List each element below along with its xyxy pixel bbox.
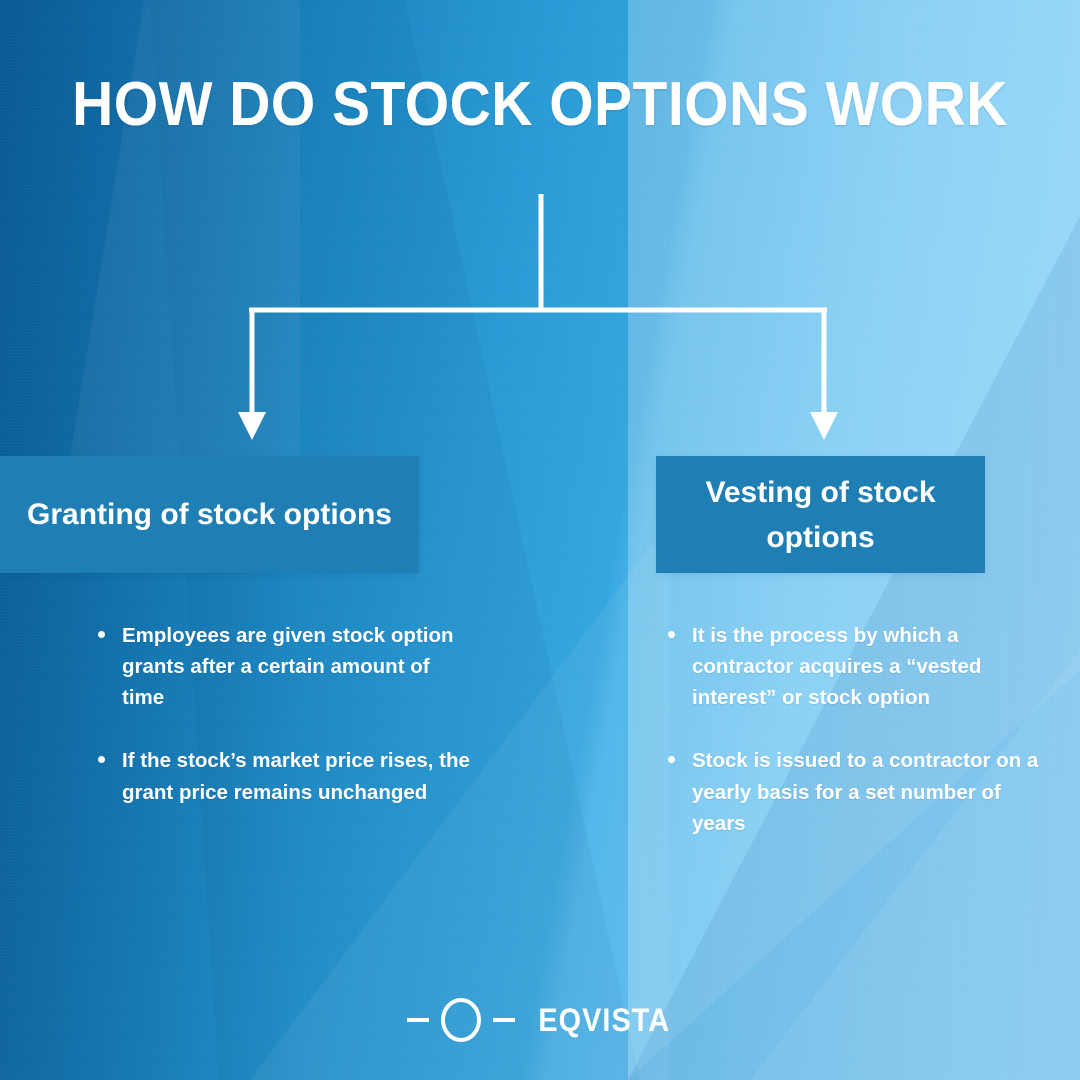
list-item: It is the process by which a contractor … [660, 620, 1040, 713]
list-item: Employees are given stock option grants … [90, 620, 470, 713]
branch-heading-box-vesting[interactable]: Vesting of stock options [656, 456, 985, 573]
page-title: HOW DO STOCK OPTIONS WORK [43, 74, 1037, 136]
brand-name: EQVISTA [538, 1004, 670, 1036]
dash-circle-dash-icon [403, 998, 519, 1042]
list-item: Stock is issued to a contractor on a yea… [660, 745, 1040, 838]
infographic-canvas: HOW DO STOCK OPTIONS WORK Granting of st… [0, 0, 1080, 1080]
footer-logo[interactable]: EQVISTA [0, 998, 1080, 1042]
arrowhead-left [238, 412, 266, 440]
bullet-list-vesting: It is the process by which a contractor … [660, 620, 1040, 871]
list-item: If the stock’s market price rises, the g… [90, 745, 470, 807]
branch-heading-label-granting: Granting of stock options [13, 492, 406, 537]
bullet-list-granting: Employees are given stock option grants … [90, 620, 470, 840]
arrowhead-right [810, 412, 838, 440]
branch-heading-label-vesting: Vesting of stock options [656, 470, 985, 560]
branch-heading-box-granting[interactable]: Granting of stock options [0, 456, 419, 573]
